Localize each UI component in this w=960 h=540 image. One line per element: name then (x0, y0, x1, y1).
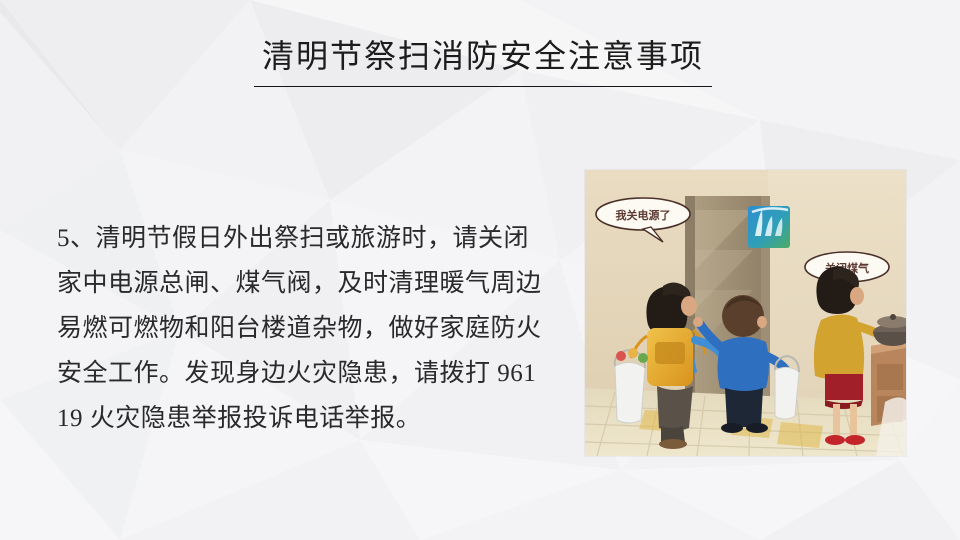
paragraph-line: 安全工作。发现身边火灾隐患，请拨打 961 (57, 351, 537, 396)
paragraph-line: 5、清明节假日外出祭扫或旅游时，请关闭 (57, 216, 537, 261)
paragraph-line: 家中电源总闸、煤气阀，及时清理暖气周边 (57, 261, 537, 306)
body-paragraph: 5、清明节假日外出祭扫或旅游时，请关闭 家中电源总闸、煤气阀，及时清理暖气周边 … (57, 216, 537, 441)
paragraph-line: 19 火灾隐患举报投诉电话举报。 (57, 396, 537, 441)
page-title-block: 清明节祭扫消防安全注意事项 (254, 36, 712, 87)
paragraph-line: 易燃可燃物和阳台楼道杂物，做好家庭防火 (57, 306, 537, 351)
title-divider (254, 86, 712, 87)
speech-bubble-left-text: 我关电源了 (616, 208, 671, 222)
page-title: 清明节祭扫消防安全注意事项 (254, 36, 712, 76)
wall-art-icon (748, 206, 790, 248)
illustration-cartoon: 我关电源了 关闭煤气 (585, 170, 906, 456)
slide-canvas: 清明节祭扫消防安全注意事项 5、清明节假日外出祭扫或旅游时，请关闭 家中电源总闸… (0, 0, 960, 540)
